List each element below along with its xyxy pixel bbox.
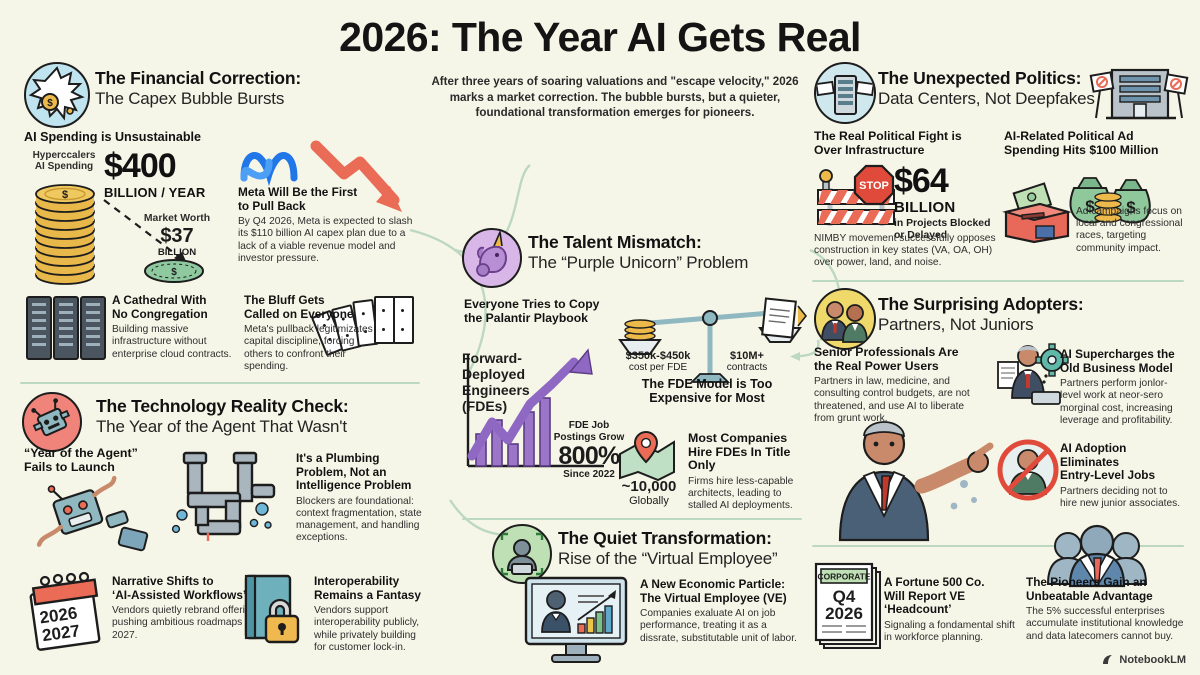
meta-infinity-icon xyxy=(236,142,302,186)
locked-book-icon xyxy=(240,570,314,650)
financial-stat-heading: AI Spending is Unsustainable xyxy=(24,131,224,145)
title-only-heading-line1: Most Companies xyxy=(688,432,806,446)
fde-expensive-heading-line2: Expensive for Most xyxy=(612,392,802,406)
senior-pros-heading-line2: the Real Power Users xyxy=(814,360,986,374)
cathedral-heading-line2: No Congregation xyxy=(112,308,242,322)
plumbing-heading-line2: Problem, Not an xyxy=(296,466,422,480)
fde-chart-label-line3: Engineers xyxy=(462,382,562,398)
presenter-pointing-icon xyxy=(812,414,992,542)
blocked-projects-unit: BILLION xyxy=(894,199,1014,216)
quiet-section-icon xyxy=(492,524,552,584)
cathedral-heading-line1: A Cathedral With xyxy=(112,294,242,308)
plumbing-heading-line3: Intelligence Problem xyxy=(296,479,422,493)
virtual-employee-heading-line1: A New Economic Particle: xyxy=(640,578,804,592)
fde-chart-label-line2: Deployed xyxy=(462,366,562,382)
interop-heading-line2: Remains a Fantasy xyxy=(314,589,424,603)
server-racks-icon xyxy=(26,296,104,358)
technology-section-icon xyxy=(22,392,82,452)
calendar-icon: 2026 2027 xyxy=(26,570,106,654)
page-title: 2026: The Year AI Gets Real xyxy=(0,14,1200,61)
notebooklm-brand: NotebookLM xyxy=(1101,653,1186,667)
ad-spending-heading-line1: AI-Related Political Ad xyxy=(1004,130,1184,144)
financial-section-icon: $ xyxy=(24,62,90,128)
cathedral-body: Building massive infrastructure without … xyxy=(112,324,242,361)
market-worth-unit: BILLION xyxy=(132,247,222,258)
eliminate-jobs-heading-line2: Eliminates xyxy=(1060,456,1186,470)
meta-card-heading-line2: to Pull Back xyxy=(238,200,418,214)
contract-value: $10M+ xyxy=(704,350,790,362)
svg-text:$: $ xyxy=(62,189,68,201)
plumbing-heading-line1: It's a Plumbing xyxy=(296,452,422,466)
hyperscaler-spend-value: $400 xyxy=(104,150,224,182)
fallen-robot-icon xyxy=(28,474,158,556)
plumbing-body: Blockers are foundational: context fragm… xyxy=(296,496,422,545)
palantir-lead-line1: Everyone Tries to Copy xyxy=(464,298,614,312)
pioneers-heading-line2: Unbeatable Advantage xyxy=(1026,590,1186,604)
protested-building-icon xyxy=(1090,62,1190,124)
corporate-report-icon: CORPORATE Q4 2026 xyxy=(812,562,890,658)
financial-section-title: The Financial Correction: xyxy=(95,68,325,88)
svg-text:2026: 2026 xyxy=(825,604,863,623)
small-coin-icon: $ xyxy=(143,258,205,284)
eliminate-jobs-heading-line3: Entry-Level Jobs xyxy=(1060,469,1186,483)
technology-section-subtitle: The Year of the Agent That Wasn't xyxy=(96,416,416,437)
title-only-heading-line2: Hire FDEs In Title Only xyxy=(688,446,806,473)
notebooklm-brand-label: NotebookLM xyxy=(1119,654,1186,666)
adopters-section-title: The Surprising Adopters: xyxy=(878,294,1178,314)
fortune500-heading-line3: ‘Headcount’ xyxy=(884,603,1022,617)
nimby-body: NIMBY movement successfully opposes cons… xyxy=(814,233,996,270)
ad-campaign-body: Ad campaigns focus on local and congress… xyxy=(1076,206,1188,255)
hyperscaler-label-line2: AI Spending xyxy=(24,161,104,172)
bluff-heading-line2: Called on Everyone xyxy=(244,308,382,322)
svg-text:$: $ xyxy=(47,98,53,109)
senior-pros-heading-line1: Senior Professionals Are xyxy=(814,346,986,360)
hyperscaler-label-line1: Hyperccalers xyxy=(24,150,104,161)
infrastructure-fight-heading-line2: Over Infrastructure xyxy=(814,144,994,158)
notebooklm-logo-icon xyxy=(1101,653,1115,667)
executive-gear-icon xyxy=(994,340,1064,406)
virtual-employee-body: Companies exaluate AI on job performance… xyxy=(640,608,804,645)
no-junior-icon xyxy=(996,438,1060,502)
meta-card-body: By Q4 2026, Meta is expected to slash it… xyxy=(238,216,418,265)
financial-section-subtitle: The Capex Bubble Bursts xyxy=(95,88,325,109)
infrastructure-fight-heading-line1: The Real Political Fight is xyxy=(814,130,994,144)
eliminate-jobs-heading-line1: AI Adoption xyxy=(1060,442,1186,456)
politics-section-icon xyxy=(814,62,876,124)
divider-right-1 xyxy=(812,280,1184,282)
intro-paragraph: After three years of soaring valuations … xyxy=(424,74,806,121)
adopters-section-icon xyxy=(814,288,876,350)
fortune500-heading-line2: Will Report VE xyxy=(884,590,1022,604)
supercharge-body: Partners perform jonlor-level work at ne… xyxy=(1060,378,1184,427)
divider-center-1 xyxy=(462,518,802,520)
blocked-projects-value: $64 xyxy=(894,165,1014,197)
bluff-heading-line1: The Bluff Gets xyxy=(244,294,382,308)
supercharge-heading-line1: AI Supercharges the xyxy=(1060,348,1184,362)
ballot-box-icon xyxy=(1002,170,1072,242)
svg-text:CORPORATE: CORPORATE xyxy=(818,572,871,582)
blocked-projects-desc-line1: in Projects Blocked xyxy=(894,218,1014,230)
palantir-lead-line2: the Palantir Playbook xyxy=(464,312,614,326)
svg-text:STOP: STOP xyxy=(859,180,889,192)
talent-section-icon xyxy=(462,228,522,288)
fde-chart-label-line1: Forward- xyxy=(462,350,562,366)
year-of-agent-heading-line1: “Year of the Agent” xyxy=(24,447,184,461)
divider-left-1 xyxy=(20,382,420,384)
interop-body: Vendors support interoperability publicl… xyxy=(314,605,424,654)
pioneers-heading-line1: The Pioneers Gain an xyxy=(1026,576,1186,590)
ad-spending-heading-line2: Spending Hits $100 Million xyxy=(1004,144,1184,158)
fde-chart-label-line4: (FDEs) xyxy=(462,398,562,414)
year-of-agent-heading-line2: Fails to Launch xyxy=(24,461,184,475)
coin-stack-icon: $ xyxy=(32,178,98,288)
fde-cost-label: cost per FDE xyxy=(610,362,706,373)
talent-section-title: The Talent Mismatch: xyxy=(528,232,828,252)
fde-expensive-heading-line1: The FDE Model is Too xyxy=(612,378,802,392)
supercharge-heading-line2: Old Business Model xyxy=(1060,362,1184,376)
map-pin-icon xyxy=(616,428,680,482)
eliminate-jobs-body: Partners deciding not to hire new junior… xyxy=(1060,486,1186,510)
market-worth-label: Market Worth xyxy=(132,213,222,224)
contract-label: contracts xyxy=(704,362,790,373)
pioneers-body: The 5% successful enterprises accumulate… xyxy=(1026,606,1186,643)
leaking-pipes-icon xyxy=(168,445,286,555)
meta-card-heading-line1: Meta Will Be the First xyxy=(238,186,418,200)
infographic-canvas: 2026: The Year AI Gets Real After three … xyxy=(0,0,1200,675)
svg-text:$: $ xyxy=(171,267,177,278)
interop-heading-line1: Interoperability xyxy=(314,575,424,589)
virtual-employee-heading-line2: The Virtual Employee (VE) xyxy=(640,592,804,606)
market-worth-value: $37 xyxy=(132,225,222,247)
fde-cost-value: $350k-$450k xyxy=(610,350,706,362)
technology-section-title: The Technology Reality Check: xyxy=(96,396,416,416)
monitor-chart-icon xyxy=(522,576,632,664)
bluff-body: Meta's pullback legitimizates capital di… xyxy=(244,324,382,373)
adopters-section-subtitle: Partners, Not Juniors xyxy=(878,314,1178,335)
talent-section-subtitle: The “Purple Unicorn” Problem xyxy=(528,252,828,273)
title-only-body: Firms hire less-capable architects, lead… xyxy=(688,476,806,513)
fortune500-body: Signaling a fondamental shift in workfor… xyxy=(884,620,1022,644)
fde-global-count: ~10,000 xyxy=(610,478,688,495)
fortune500-heading-line1: A Fortune 500 Co. xyxy=(884,576,1022,590)
fde-global-label: Globally xyxy=(610,495,688,507)
